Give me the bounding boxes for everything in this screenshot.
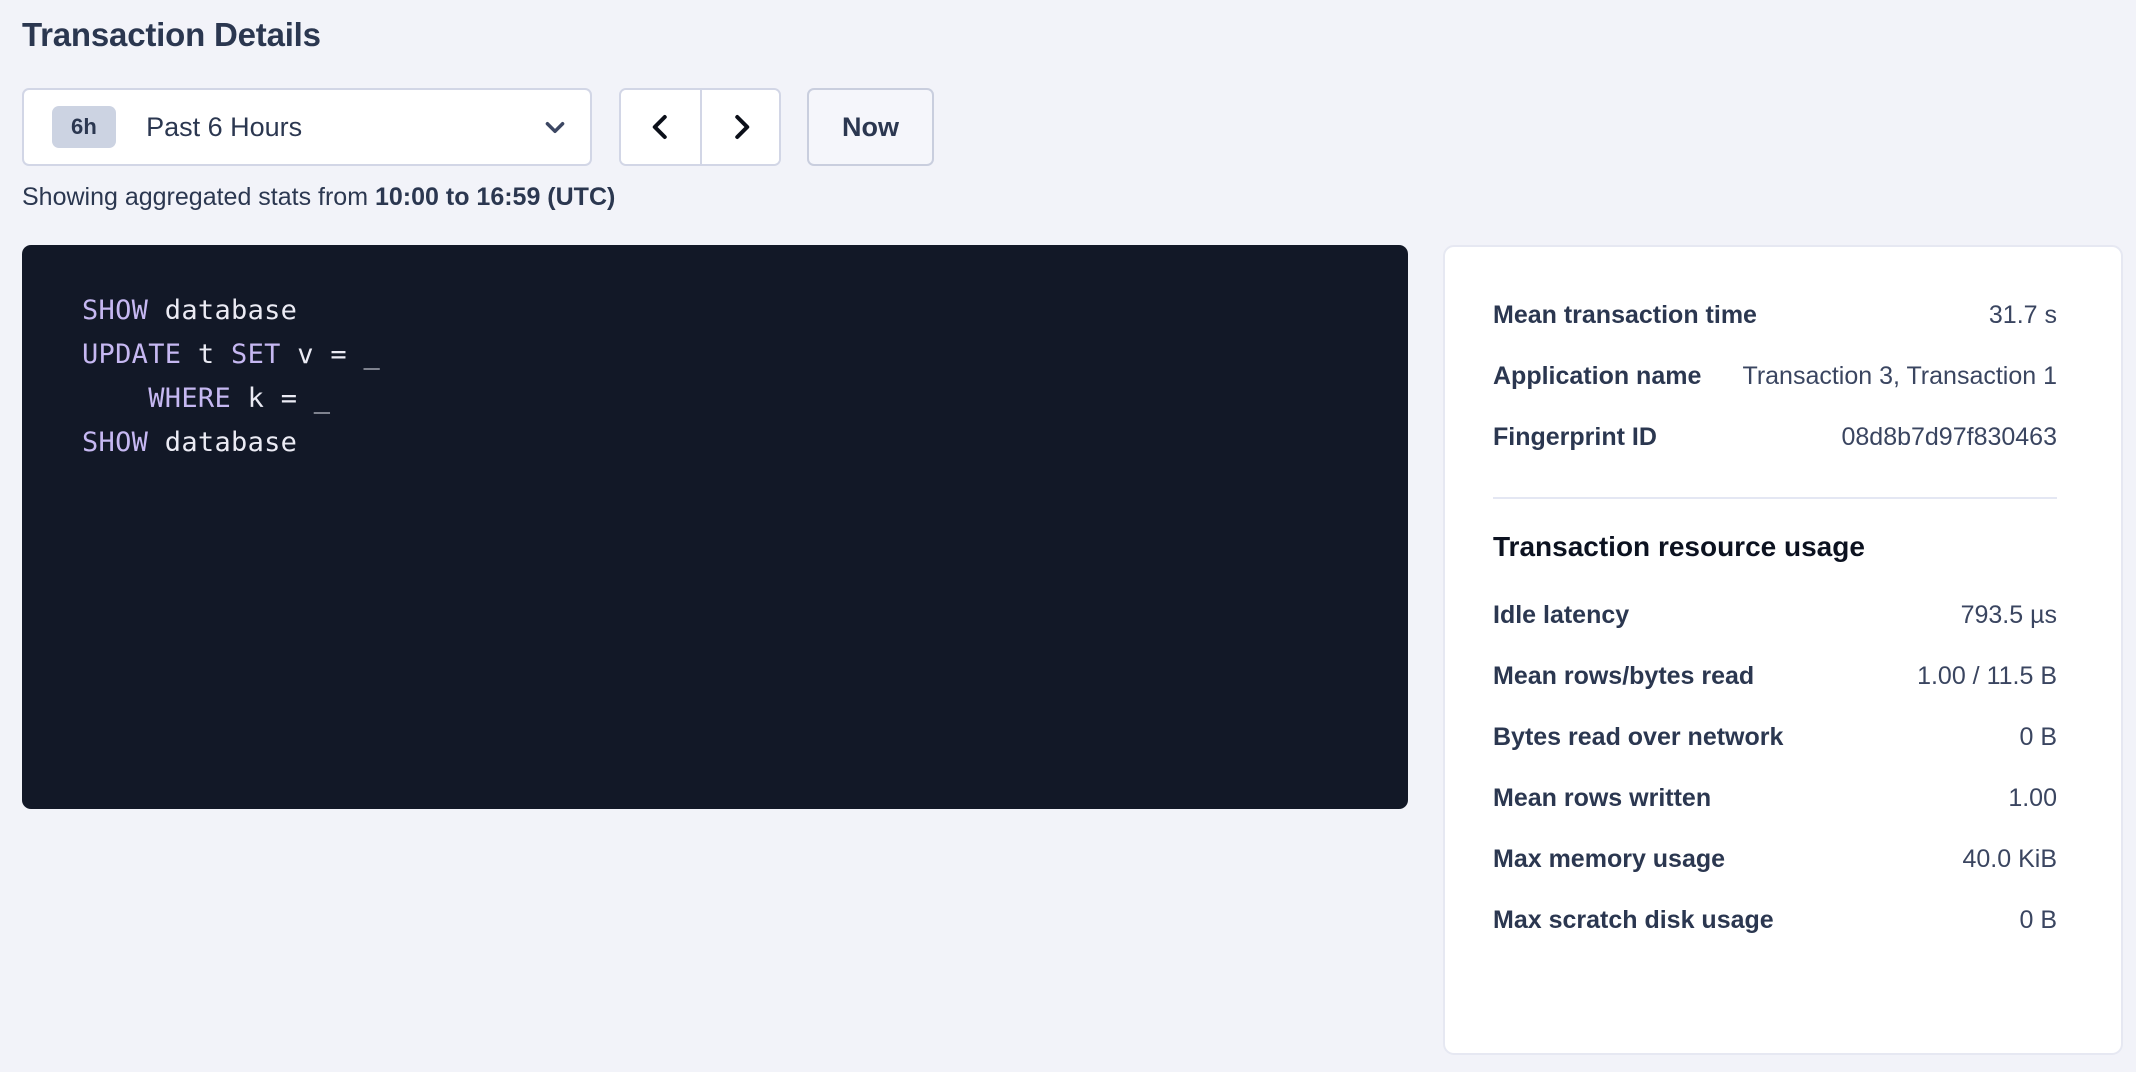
detail-row-value: 31.7 s	[1989, 301, 2057, 330]
detail-row: Mean rows written1.00	[1493, 768, 2057, 829]
sql-keyword: SHOW	[82, 295, 148, 326]
detail-row-value: 793.5 µs	[1961, 601, 2057, 630]
detail-row: Application nameTransaction 3, Transacti…	[1493, 346, 2057, 407]
detail-row-label: Application name	[1493, 362, 1701, 391]
detail-row: Fingerprint ID08d8b7d97f830463	[1493, 407, 2057, 468]
range-note-value: 10:00 to 16:59 (UTC)	[375, 183, 615, 211]
sql-statement-text: SHOW databaseUPDATE t SET v = _ WHERE k …	[82, 289, 1408, 465]
chevron-down-icon	[542, 114, 568, 140]
detail-row: Max memory usage40.0 KiB	[1493, 829, 2057, 890]
transaction-details-card: Mean transaction time31.7 sApplication n…	[1443, 245, 2123, 1055]
sql-keyword: UPDATE	[82, 339, 181, 370]
sql-identifier: t	[198, 339, 215, 370]
detail-row-value: 0 B	[2019, 723, 2057, 752]
sql-identifier: v = _	[297, 339, 380, 370]
chevron-left-icon	[646, 112, 676, 142]
chevron-right-icon	[726, 112, 756, 142]
sql-keyword: WHERE	[148, 383, 231, 414]
sql-identifier: database	[165, 295, 297, 326]
previous-range-button[interactable]	[621, 90, 700, 164]
detail-row-label: Fingerprint ID	[1493, 423, 1657, 452]
detail-row-value: 1.00 / 11.5 B	[1917, 662, 2057, 691]
detail-row-value: 08d8b7d97f830463	[1841, 423, 2057, 452]
detail-row-value: 0 B	[2019, 906, 2057, 935]
section-divider	[1493, 497, 2057, 499]
resource-usage-rows: Idle latency793.5 µsMean rows/bytes read…	[1493, 585, 2057, 951]
detail-row: Mean rows/bytes read1.00 / 11.5 B	[1493, 646, 2057, 707]
detail-row-label: Bytes read over network	[1493, 723, 1783, 752]
sql-line: SHOW database	[82, 421, 1408, 465]
sql-keyword: SHOW	[82, 427, 148, 458]
detail-row-label: Mean rows/bytes read	[1493, 662, 1754, 691]
sql-identifier: k = _	[248, 383, 331, 414]
detail-row-value: 40.0 KiB	[1962, 845, 2057, 874]
detail-row-label: Max memory usage	[1493, 845, 1725, 874]
range-note: Showing aggregated stats from 10:00 to 1…	[22, 183, 615, 212]
next-range-button[interactable]	[700, 90, 779, 164]
detail-row: Mean transaction time31.7 s	[1493, 285, 2057, 346]
detail-row-label: Mean transaction time	[1493, 301, 1757, 330]
detail-row: Bytes read over network0 B	[1493, 707, 2057, 768]
sql-line: SHOW database	[82, 289, 1408, 333]
resource-usage-title: Transaction resource usage	[1493, 525, 2057, 585]
detail-row-label: Mean rows written	[1493, 784, 1711, 813]
range-note-prefix: Showing aggregated stats from	[22, 183, 375, 211]
summary-rows: Mean transaction time31.7 sApplication n…	[1493, 285, 2057, 468]
detail-row-value: 1.00	[2008, 784, 2057, 813]
now-button[interactable]: Now	[807, 88, 934, 166]
time-range-label: Past 6 Hours	[146, 112, 302, 143]
time-nav-group	[619, 88, 781, 166]
sql-identifier: database	[165, 427, 297, 458]
detail-row-label: Idle latency	[1493, 601, 1629, 630]
detail-row: Max scratch disk usage0 B	[1493, 890, 2057, 951]
detail-row-value: Transaction 3, Transaction 1	[1742, 362, 2057, 391]
time-range-badge: 6h	[52, 106, 116, 148]
transaction-details-page: Transaction Details 6h Past 6 Hours Now …	[0, 0, 2136, 1072]
sql-keyword: SET	[231, 339, 281, 370]
detail-row: Idle latency793.5 µs	[1493, 585, 2057, 646]
time-range-select[interactable]: 6h Past 6 Hours	[22, 88, 592, 166]
time-range-toolbar: 6h Past 6 Hours Now	[22, 88, 934, 166]
sql-line: UPDATE t SET v = _	[82, 333, 1408, 377]
page-title: Transaction Details	[22, 16, 321, 54]
detail-row-label: Max scratch disk usage	[1493, 906, 1774, 935]
sql-line: WHERE k = _	[82, 377, 1408, 421]
sql-statement-card: SHOW databaseUPDATE t SET v = _ WHERE k …	[22, 245, 1408, 809]
